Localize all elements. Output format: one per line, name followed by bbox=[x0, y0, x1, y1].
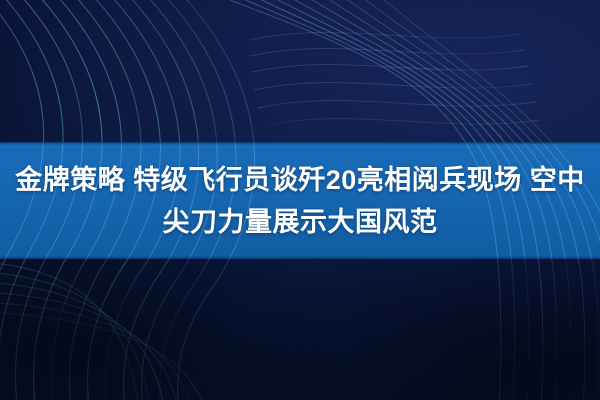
headline-text: 金牌策略 特级飞行员谈歼20亮相阅兵现场 空中 尖刀力量展示大国风范 bbox=[0, 142, 600, 259]
headline-line-1: 金牌策略 特级飞行员谈歼20亮相阅兵现场 空中 bbox=[15, 159, 585, 201]
headline-band: 金牌策略 特级飞行员谈歼20亮相阅兵现场 空中 尖刀力量展示大国风范 bbox=[0, 142, 600, 259]
banner-image: 金牌策略 特级飞行员谈歼20亮相阅兵现场 空中 尖刀力量展示大国风范 bbox=[0, 0, 600, 400]
headline-line-2: 尖刀力量展示大国风范 bbox=[163, 201, 438, 243]
